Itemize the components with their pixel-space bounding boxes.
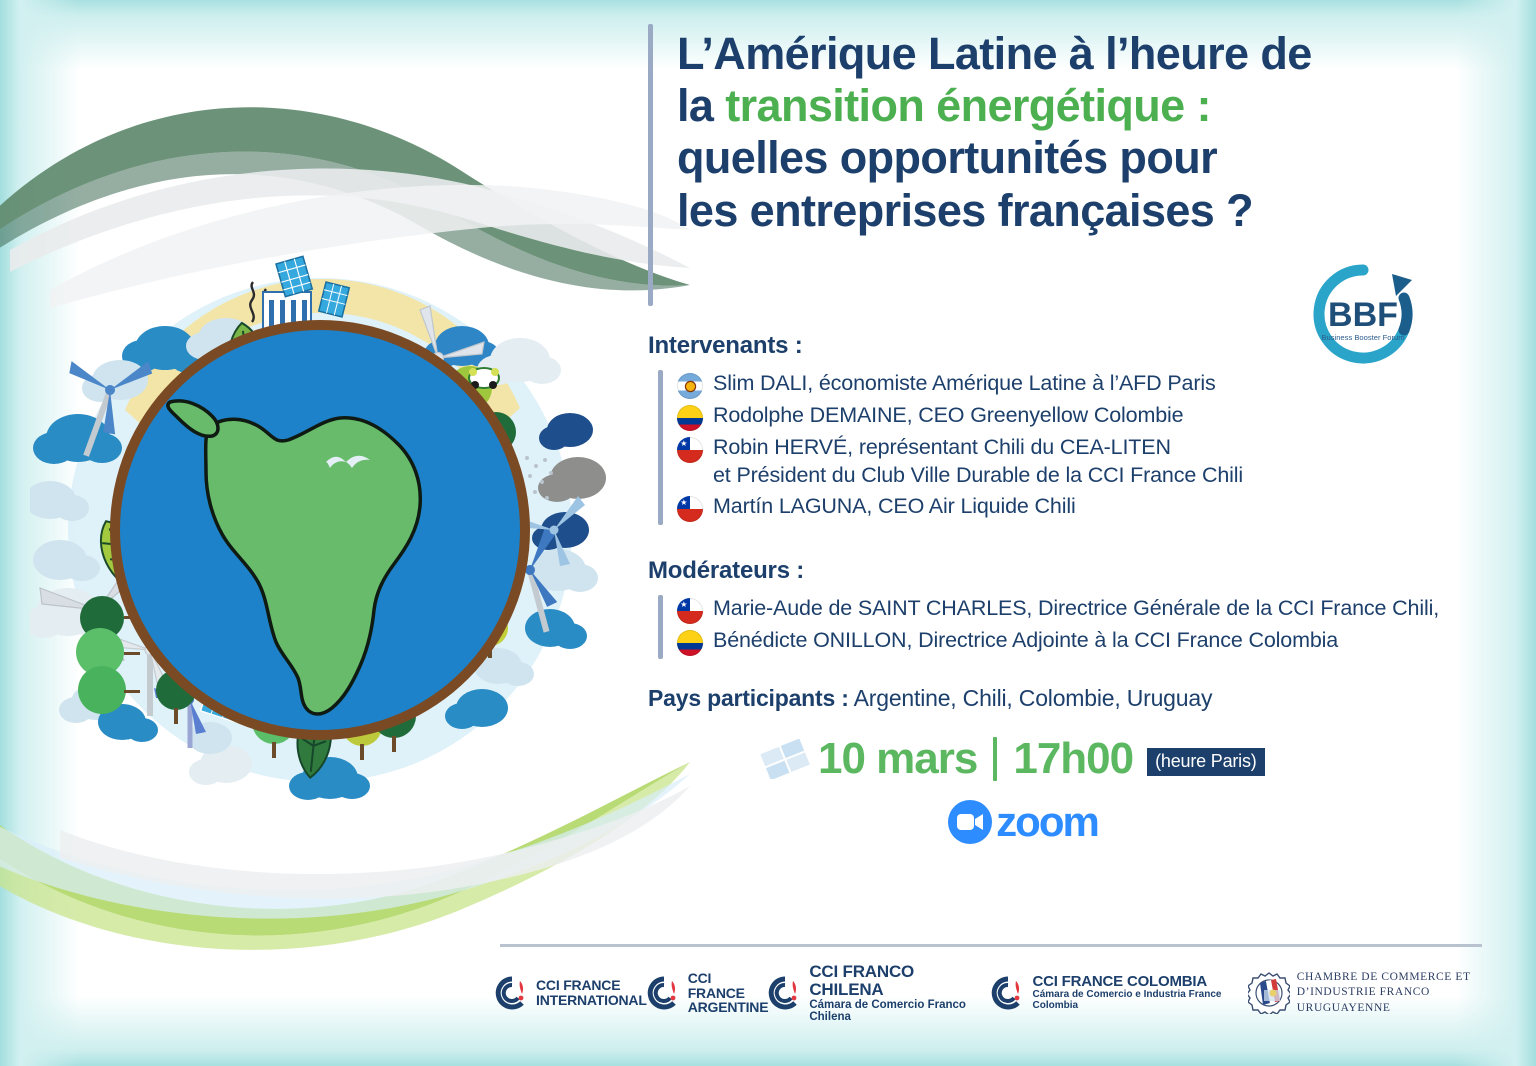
zoom-wordmark: zoom [996,798,1098,846]
cci-mark-icon [768,976,802,1010]
moderator-name-role: Bénédicte ONILLON, Directrice Adjointe à… [713,627,1338,655]
logo-cci-franco-chilena: CCI FRANCO CHILENA Cámara de Comercio Fr… [768,963,991,1023]
event-poster: BBF Business Booster Forum L’Amérique La… [0,0,1536,1066]
speaker-name-role: Rodolphe DEMAINE, CEO Greenyellow Colomb… [713,402,1183,430]
logo-cci-france-colombia: CCI FRANCE COLOMBIA Cámara de Comercio e… [991,974,1247,1011]
title-line-1: L’Amérique Latine à l’heure de [677,28,1312,79]
eco-car-right [469,368,499,389]
poster-content: L’Amérique Latine à l’heure de la transi… [648,24,1518,846]
list-item: ★ Marie-Aude de SAINT CHARLES, Directric… [677,595,1518,624]
moderator-name-role: Marie-Aude de SAINT CHARLES, Directrice … [713,595,1439,623]
moderators-heading: Modérateurs : [648,557,1518,585]
speaker-line-sub: et Président du Club Ville Durable de la… [713,462,1243,490]
list-item: ★ Martín LAGUNA, CEO Air Liquide Chili [677,493,1518,522]
datetime-separator [993,737,997,781]
colombia-flag-icon [677,630,703,656]
speaker-line-main: Robin HERVÉ, représentant Chili du CEA-L… [713,435,1171,459]
logo-line-sub: Cámara de Comercio Franco Chilena [809,999,991,1023]
partner-logos: CCI FRANCE INTERNATIONAL CCI FRANCE ARGE… [495,960,1505,1026]
cci-mark-icon [495,976,529,1010]
video-camera-icon [948,800,992,844]
list-item: Bénédicte ONILLON, Directrice Adjointe à… [677,627,1518,656]
logo-chambre-franco-uruguayenne: CHAMBRE DE COMMERCE ET D’INDUSTRIE FRANC… [1248,970,1505,1017]
page-title: L’Amérique Latine à l’heure de la transi… [677,24,1312,237]
cci-mark-icon [991,976,1025,1010]
chile-flag-icon: ★ [677,437,703,463]
participating-countries: Pays participants : Argentine, Chili, Co… [648,685,1518,712]
logo-line-1: CCI FRANCE COLOMBIA [1032,974,1247,990]
event-date: 10 mars [818,734,977,784]
zoom-logo: zoom [948,798,1098,846]
logo-line-1: CCI FRANCO CHILENA [809,963,991,999]
countries-label: Pays participants : [648,685,849,711]
gear-seal-icon [1248,972,1290,1014]
moderators-list: ★ Marie-Aude de SAINT CHARLES, Directric… [648,595,1518,659]
cci-mark-icon [647,976,681,1010]
bbf-tagline: Business Booster Forum [1321,333,1404,342]
chile-flag-icon: ★ [677,598,703,624]
title-line-2-highlight: transition énergétique : [725,80,1211,131]
logo-line-2: INTERNATIONAL [536,993,647,1008]
event-time: 17h00 [1013,734,1133,784]
footer-divider [500,944,1482,947]
event-datetime-row: 10 mars 17h00 (heure Paris) [648,734,1518,784]
timezone-badge: (heure Paris) [1147,748,1264,776]
logo-line-sub: Cámara de Comercio e Industria France Co… [1032,990,1247,1011]
logo-line-2: ARGENTINE [688,1000,769,1015]
solar-panel-icon [760,739,812,779]
globe-sphere [110,320,530,740]
eco-globe-illustration [30,230,610,810]
logo-line-2: D’INDUSTRIE FRANCO URUGUAYENNE [1297,985,1505,1016]
chile-flag-icon: ★ [677,496,703,522]
colombia-flag-icon [677,405,703,431]
bbf-initials: BBF [1328,296,1398,334]
logo-cci-france-international: CCI FRANCE INTERNATIONAL [495,976,647,1010]
title-line-4: les entreprises françaises ? [677,185,1253,236]
platform-row: zoom [648,798,1518,846]
title-line-2-prefix: la [677,80,725,131]
title-accent-bar [648,24,653,306]
speaker-name-role: Robin HERVÉ, représentant Chili du CEA-L… [713,434,1243,490]
list-item: Rodolphe DEMAINE, CEO Greenyellow Colomb… [677,402,1518,431]
logo-line-1: CCI FRANCE [536,978,647,993]
logo-line-1: CCI FRANCE [688,971,769,1001]
speakers-list: Slim DALI, économiste Amérique Latine à … [648,370,1518,525]
speakers-accent-bar [658,370,663,525]
argentina-flag-icon [677,373,703,399]
moderators-accent-bar [658,595,663,659]
title-line-3: quelles opportunités pour [677,132,1217,183]
speaker-name-role: Martín LAGUNA, CEO Air Liquide Chili [713,493,1076,521]
logo-line-1: CHAMBRE DE COMMERCE ET [1297,970,1505,986]
speaker-name-role: Slim DALI, économiste Amérique Latine à … [713,370,1216,398]
bbf-logo: BBF Business Booster Forum [1300,258,1426,370]
list-item: ★ Robin HERVÉ, représentant Chili du CEA… [677,434,1518,490]
logo-cci-france-argentine: CCI FRANCE ARGENTINE [647,971,769,1015]
list-item: Slim DALI, économiste Amérique Latine à … [677,370,1518,399]
countries-value: Argentine, Chili, Colombie, Uruguay [854,685,1213,711]
